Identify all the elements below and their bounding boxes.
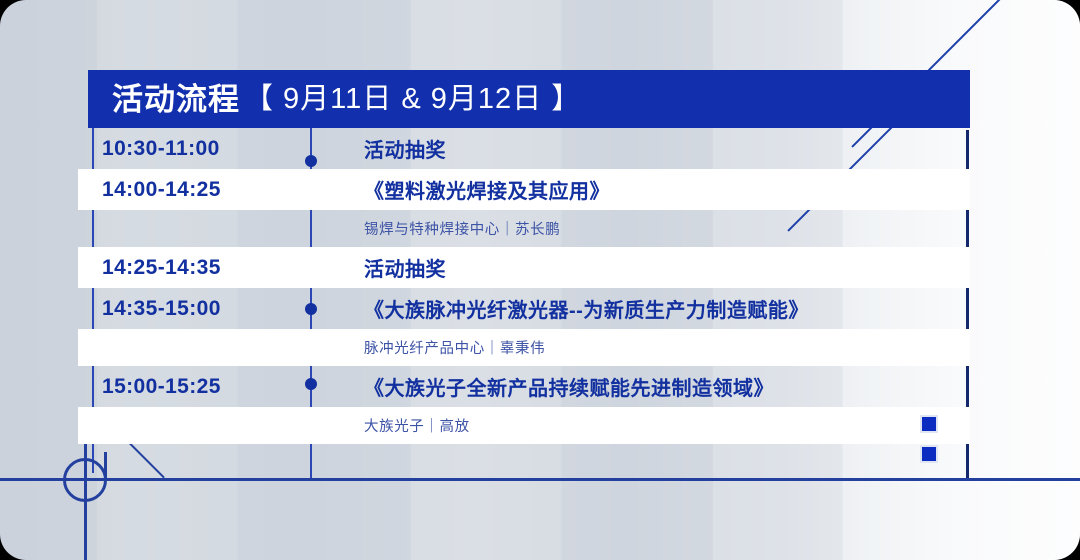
session-title: 活动抽奖 (364, 134, 446, 163)
table-row: 14:00-14:25 《塑料激光焊接及其应用》 (78, 169, 970, 210)
session-title: 活动抽奖 (364, 253, 446, 282)
session-title: 《大族脉冲光纤激光器--为新质生产力制造赋能》 (364, 294, 809, 323)
square-marker (920, 415, 938, 433)
schedule-table: 10:30-11:00 活动抽奖 14:00-14:25 《塑料激光焊接及其应用… (78, 128, 970, 444)
frame-line-bottom (104, 478, 1080, 481)
session-speaker: 大族光子｜高放 (364, 415, 470, 436)
table-row-speaker: 脉冲光纤产品中心｜辜秉伟 (78, 329, 970, 366)
header-bar: 活动流程 【 9月11日 & 9月12日 】 (88, 70, 970, 128)
table-row-speaker: 大族光子｜高放 (78, 407, 970, 444)
table-row: 10:30-11:00 活动抽奖 (78, 128, 970, 169)
table-row: 14:25-14:35 活动抽奖 (78, 247, 970, 288)
session-title: 《塑料激光焊接及其应用》 (364, 175, 610, 204)
session-title: 《大族光子全新产品持续赋能先进制造领域》 (364, 372, 774, 401)
session-speaker: 脉冲光纤产品中心｜辜秉伟 (364, 337, 545, 358)
session-time: 15:00-15:25 (78, 375, 292, 399)
table-row: 14:35-15:00 《大族脉冲光纤激光器--为新质生产力制造赋能》 (78, 288, 970, 329)
page-title: 活动流程 (112, 84, 240, 115)
session-time: 14:00-14:25 (78, 178, 292, 202)
square-marker (920, 445, 938, 463)
session-speaker: 锡焊与特种焊接中心｜苏长鹏 (364, 218, 560, 239)
session-time: 10:30-11:00 (78, 137, 292, 161)
header-dates: 【 9月11日 & 9月12日 】 (244, 85, 581, 114)
session-time: 14:25-14:35 (78, 256, 292, 280)
event-schedule-poster: 活动流程 【 9月11日 & 9月12日 】 10:30-11:00 活动抽奖 … (0, 0, 1080, 560)
session-time: 14:35-15:00 (78, 297, 292, 321)
table-row: 15:00-15:25 《大族光子全新产品持续赋能先进制造领域》 (78, 366, 970, 407)
table-row-speaker: 锡焊与特种焊接中心｜苏长鹏 (78, 210, 970, 247)
crosshair-target-icon (63, 458, 107, 502)
